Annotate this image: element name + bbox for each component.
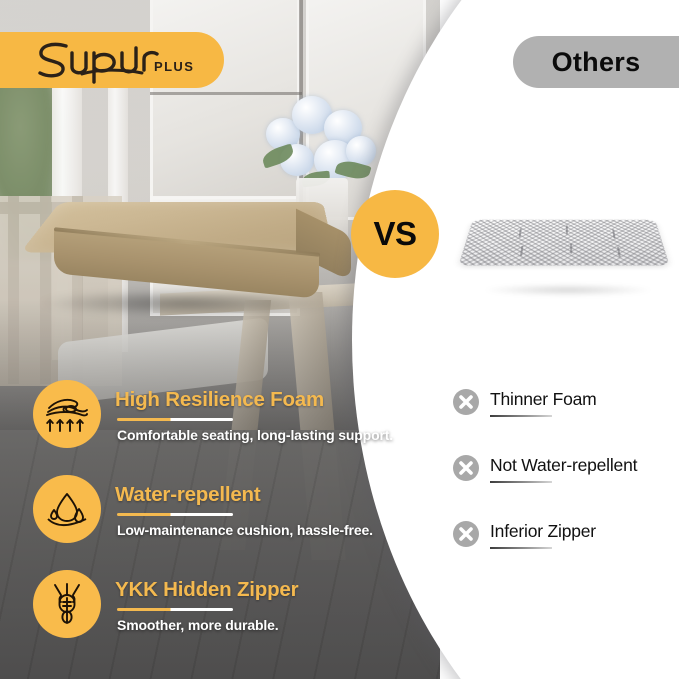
feature-item: YKK Hidden Zipper Smoother, more durable… — [33, 570, 373, 665]
tufted-pad-body — [458, 220, 669, 266]
drawback-label: Inferior Zipper — [490, 521, 596, 542]
feature-list: High Resilience Foam Comfortable seating… — [33, 380, 373, 665]
feature-divider — [117, 418, 233, 421]
hand-pressing-foam-icon — [33, 380, 101, 448]
drawback-label: Thinner Foam — [490, 389, 597, 410]
feature-title: High Resilience Foam — [115, 388, 324, 412]
competitor-header-label: Others — [552, 47, 641, 78]
comparison-infographic: PLUS Others VS — [0, 0, 679, 679]
brand-logo-bar: PLUS — [0, 32, 224, 88]
x-circle-icon — [452, 454, 480, 482]
drawback-item: Not Water-repellent — [452, 452, 679, 518]
brand-suffix: PLUS — [154, 59, 194, 74]
drawback-item: Thinner Foam — [452, 386, 679, 452]
drawback-divider — [490, 547, 552, 549]
feature-item: Water-repellent Low-maintenance cushion,… — [33, 475, 373, 570]
drawback-item: Inferior Zipper — [452, 518, 679, 584]
feature-subtitle: Low-maintenance cushion, hassle-free. — [117, 522, 373, 538]
feature-title: YKK Hidden Zipper — [115, 578, 298, 602]
product-cushion-ours — [34, 180, 334, 305]
x-circle-icon — [452, 388, 480, 416]
feature-subtitle: Smoother, more durable. — [117, 617, 278, 633]
feature-subtitle: Comfortable seating, long-lasting suppor… — [117, 427, 393, 443]
drawback-label: Not Water-repellent — [490, 455, 637, 476]
feature-title: Water-repellent — [115, 483, 260, 507]
product-cushion-theirs — [460, 188, 670, 306]
water-droplet-icon — [33, 475, 101, 543]
feature-divider — [117, 513, 233, 516]
x-circle-icon — [452, 520, 480, 548]
drawback-divider — [490, 481, 552, 483]
versus-badge: VS — [351, 190, 439, 278]
competitor-drop-shadow — [484, 284, 652, 296]
competitor-drawback-list: Thinner Foam Not Water-repellent Inferio… — [452, 386, 679, 584]
versus-label: VS — [373, 215, 416, 253]
feature-divider — [117, 608, 233, 611]
zipper-icon — [33, 570, 101, 638]
hydrangea-bouquet — [262, 92, 378, 192]
competitor-header-pill: Others — [513, 36, 679, 88]
drawback-divider — [490, 415, 552, 417]
feature-item: High Resilience Foam Comfortable seating… — [33, 380, 373, 475]
